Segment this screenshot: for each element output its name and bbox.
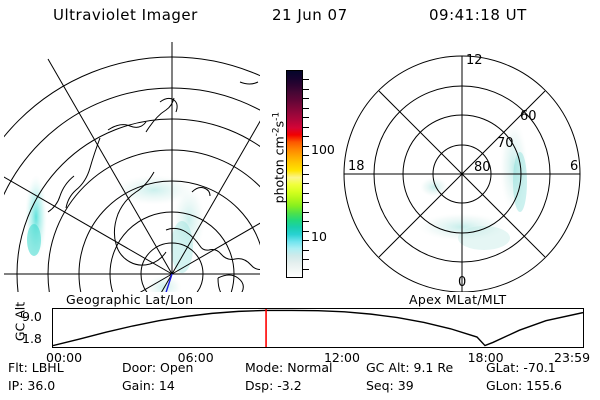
status-flt: Flt: LBHL — [8, 362, 64, 375]
mlt-label-bottom: 0 — [458, 275, 466, 290]
colorbar-ticks — [303, 70, 310, 278]
apex-graticule — [344, 56, 580, 292]
uvi-display-window: Ultraviolet Imager 21 Jun 07 09:41:18 UT — [0, 0, 600, 400]
status-seq: Seq: 39 — [366, 380, 414, 393]
colorbar-axis-title: photon cm-2s-1 — [271, 88, 286, 228]
status-dsp: Dsp: -3.2 — [245, 380, 302, 393]
mlat-label-70: 70 — [497, 136, 514, 151]
timeline-ytick-low: 1.8 — [22, 331, 42, 346]
colorbar-scale — [286, 70, 303, 278]
timeline-ytick-high: 9.0 — [22, 309, 42, 324]
observation-time: 09:41:18 UT — [429, 8, 527, 23]
colorbar-tick-label-10: 10 — [311, 229, 327, 244]
status-glat: GLat: -70.1 — [486, 362, 556, 375]
colorbar-title-main: photon cm — [272, 136, 287, 203]
status-readout: Flt: LBHL Door: Open Mode: Normal GC Alt… — [0, 362, 600, 400]
altitude-curve — [53, 310, 583, 345]
observation-date: 21 Jun 07 — [272, 8, 348, 23]
status-mode: Mode: Normal — [245, 362, 332, 375]
status-gc-alt: GC Alt: 9.1 Re — [366, 362, 453, 375]
orbit-altitude-timeline[interactable]: GC Alt 9.0 1.8 00:0006:0012:0018:0023:59 — [0, 300, 600, 358]
mlat-label-80: 80 — [474, 160, 491, 175]
colorbar-title-exp1: -2 — [271, 127, 281, 136]
status-glon: GLon: 155.6 — [486, 380, 562, 393]
colorbar-title-exp2: -1 — [271, 112, 281, 121]
status-door: Door: Open — [122, 362, 193, 375]
colorbar-title-mid: s — [272, 121, 287, 128]
status-gain: Gain: 14 — [122, 380, 175, 393]
mlt-label-top: 12 — [466, 53, 483, 68]
apex-projection-panel[interactable]: 12 18 6 0 60 70 80 — [334, 42, 590, 292]
mlat-label-60: 60 — [520, 109, 537, 124]
geographic-plot-svg — [4, 42, 260, 292]
instrument-title: Ultraviolet Imager — [53, 8, 198, 23]
colorbar-group: 100 10 photon cm-2s-1 — [266, 60, 332, 295]
timeline-plot-svg — [53, 309, 583, 347]
status-ip: IP: 36.0 — [8, 380, 55, 393]
mlt-label-left: 18 — [348, 159, 365, 174]
geographic-projection-panel[interactable] — [4, 42, 260, 292]
timeline-plot-box[interactable] — [52, 308, 584, 348]
colorbar-tick-label-100: 100 — [311, 142, 335, 157]
colorbar-gradient — [287, 71, 302, 277]
mlt-label-right: 6 — [570, 159, 578, 174]
apex-plot-svg: 12 18 6 0 60 70 80 — [334, 42, 590, 292]
